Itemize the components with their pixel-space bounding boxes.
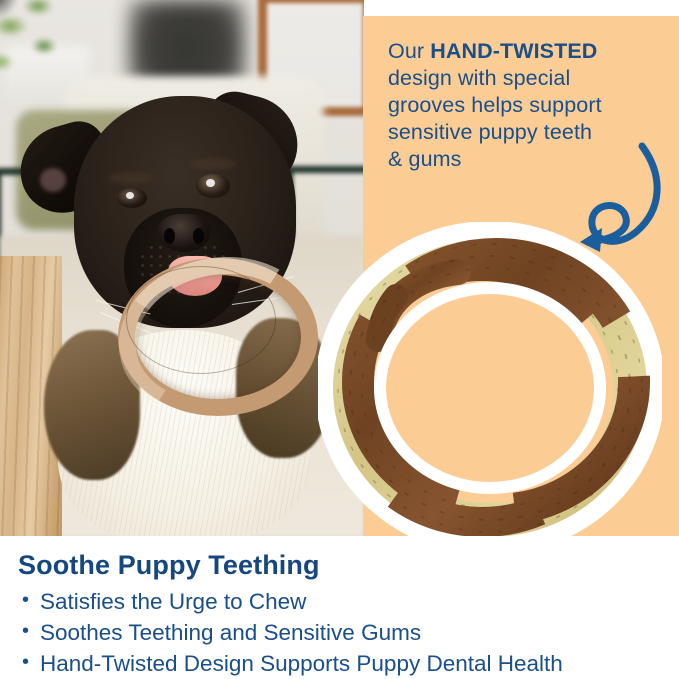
product-marketing-image: Our HAND-TWISTED design with special gro…: [0, 0, 679, 679]
benefit-item: Soothes Teething and Sensitive Gums: [22, 617, 672, 648]
benefits-list: Satisfies the Urge to Chew Soothes Teeth…: [22, 586, 672, 679]
headline-line-1: design with special: [388, 66, 570, 90]
benefit-item: Hand-Twisted Design Supports Puppy Denta…: [22, 648, 672, 679]
headline-line-4: & gums: [388, 147, 462, 171]
chew-ring-inner-shadow: [126, 266, 276, 374]
headline-line-2: grooves helps support: [388, 93, 602, 117]
puppy-brow-left: [108, 172, 152, 184]
benefits-section: Soothe Puppy Teething Satisfies the Urge…: [0, 536, 679, 679]
benefits-title: Soothe Puppy Teething: [18, 550, 320, 581]
puppy-nose: [158, 214, 210, 252]
twisted-ring-chew-product: [318, 222, 662, 556]
headline-lead: Our: [388, 39, 430, 63]
puppy-ear-inner: [40, 168, 66, 192]
headline-emphasis: HAND-TWISTED: [430, 39, 597, 63]
puppy-eye-left: [117, 188, 147, 208]
puppy-brow-right: [190, 158, 236, 170]
puppy-photo: [0, 0, 364, 536]
benefit-item: Satisfies the Urge to Chew: [22, 586, 672, 617]
puppy-eye-right: [196, 174, 230, 198]
